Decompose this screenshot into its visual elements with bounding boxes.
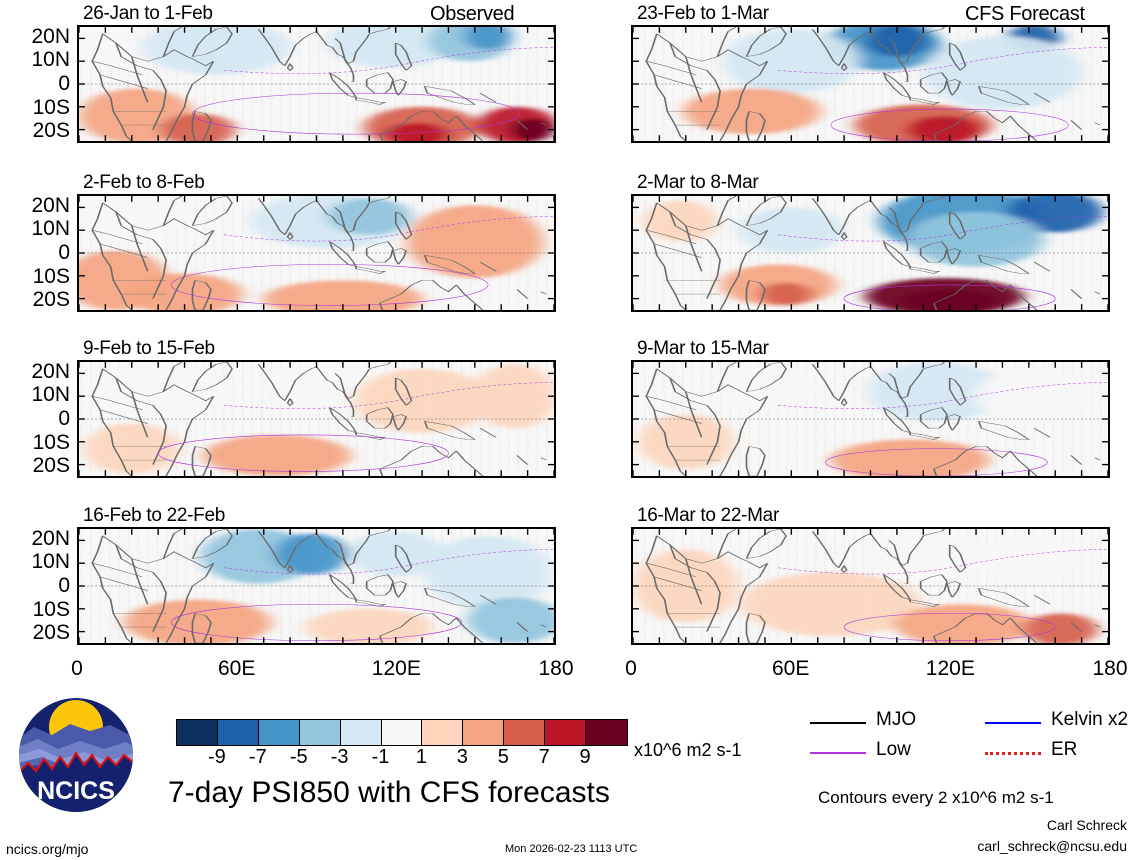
axis-ticks (633, 362, 1108, 476)
y-axis-tick-label: 20N (0, 527, 70, 551)
legend-label: Kelvin x2 (1051, 709, 1128, 731)
colorbar-swatch (341, 720, 382, 745)
axis-ticks (79, 529, 554, 643)
column-header-observed: Observed (430, 3, 514, 26)
map-plot-area (631, 194, 1110, 312)
panel-title: 9-Feb to 15-Feb (83, 338, 215, 360)
map-plot-area (631, 527, 1110, 645)
legend-line-low (810, 752, 866, 754)
y-axis-tick-label: 10S (0, 96, 70, 120)
colorbar-tick-label: -9 (208, 746, 226, 769)
colorbar-swatch (504, 720, 545, 745)
colorbar-tick-label: -5 (290, 746, 308, 769)
y-axis-tick-label: 10N (0, 217, 70, 241)
colorbar-swatch (177, 720, 218, 745)
y-axis-tick-label: 10S (0, 431, 70, 455)
colorbar-swatch (259, 720, 300, 745)
x-axis-tick-label: 60E (218, 657, 255, 681)
panel-right-1: 2-Mar to 8-Mar (631, 194, 1110, 312)
colorbar-tick-label: 7 (539, 746, 550, 769)
panel-left-1: 2-Feb to 8-Feb (77, 194, 556, 312)
panel-right-3: 16-Mar to 22-Mar (631, 527, 1110, 645)
colorbar-swatch (586, 720, 627, 745)
map-plot-area (77, 194, 556, 312)
column-header-forecast: CFS Forecast (965, 3, 1085, 26)
x-axis-tick-label: 120E (372, 657, 421, 681)
axis-ticks (79, 362, 554, 476)
panel-title: 26-Jan to 1-Feb (83, 3, 213, 25)
author-email-label: carl_schreck@ncsu.edu (977, 838, 1127, 854)
y-axis-tick-label: 0 (0, 241, 70, 265)
x-axis-tick-label: 0 (625, 657, 637, 681)
colorbar (176, 719, 628, 746)
x-axis-tick-label: 120E (926, 657, 975, 681)
ncics-logo: NCICS (18, 697, 134, 813)
panel-title: 9-Mar to 15-Mar (637, 338, 769, 360)
y-axis-tick-label: 20S (0, 288, 70, 312)
timestamp-label: Mon 2026-02-23 1113 UTC (505, 843, 637, 855)
colorbar-swatch (300, 720, 341, 745)
panel-left-2: 9-Feb to 15-Feb (77, 360, 556, 478)
panel-title: 2-Feb to 8-Feb (83, 172, 204, 194)
colorbar-tick-label: 9 (580, 746, 591, 769)
y-axis-tick-label: 20S (0, 119, 70, 143)
colorbar-tick-label: 3 (457, 746, 468, 769)
y-axis-tick-label: 0 (0, 574, 70, 598)
main-title: 7-day PSI850 with CFS forecasts (168, 776, 610, 810)
y-axis-tick-label: 0 (0, 72, 70, 96)
axis-ticks (79, 196, 554, 310)
contours-note-label: Contours every 2 x10^6 m2 s-1 (818, 788, 1054, 808)
colorbar-swatch (382, 720, 423, 745)
axis-ticks (79, 27, 554, 141)
colorbar-tick-label: -7 (249, 746, 267, 769)
site-url-label: ncics.org/mjo (6, 841, 88, 857)
y-axis-tick-label: 20N (0, 194, 70, 218)
legend-line-er (985, 752, 1041, 755)
axis-ticks (633, 529, 1108, 643)
panel-title: 2-Mar to 8-Mar (637, 172, 758, 194)
x-axis-tick-label: 180 (538, 657, 573, 681)
panel-left-3: 16-Feb to 22-Feb (77, 527, 556, 645)
y-axis-tick-label: 20S (0, 621, 70, 645)
y-axis-tick-label: 10N (0, 383, 70, 407)
map-plot-area (77, 360, 556, 478)
panel-right-0: 23-Feb to 1-Mar (631, 25, 1110, 143)
y-axis-tick-label: 10S (0, 598, 70, 622)
x-axis-tick-label: 0 (71, 657, 83, 681)
y-axis-tick-label: 10S (0, 265, 70, 289)
colorbar-tick-label: -1 (372, 746, 390, 769)
x-axis-tick-label: 180 (1092, 657, 1127, 681)
legend-label: ER (1051, 739, 1077, 761)
legend-label: Low (876, 739, 911, 761)
y-axis-tick-label: 10N (0, 550, 70, 574)
colorbar-tick-label: 5 (498, 746, 509, 769)
panel-title: 16-Feb to 22-Feb (83, 505, 225, 527)
legend-label: MJO (876, 709, 916, 731)
logo-text: NCICS (37, 777, 115, 805)
colorbar-units-label: x10^6 m2 s-1 (634, 740, 742, 761)
colorbar-swatch (422, 720, 463, 745)
map-plot-area (631, 360, 1110, 478)
y-axis-tick-label: 20S (0, 454, 70, 478)
y-axis-tick-label: 20N (0, 25, 70, 49)
y-axis-tick-label: 0 (0, 407, 70, 431)
x-axis-tick-label: 60E (772, 657, 809, 681)
panel-title: 16-Mar to 22-Mar (637, 505, 779, 527)
panel-left-0: 26-Jan to 1-Feb (77, 25, 556, 143)
map-plot-area (77, 25, 556, 143)
axis-ticks (633, 27, 1108, 141)
colorbar-tick-label: 1 (416, 746, 427, 769)
y-axis-tick-label: 10N (0, 48, 70, 72)
map-plot-area (631, 25, 1110, 143)
author-label: Carl Schreck (1047, 817, 1127, 833)
colorbar-swatch (463, 720, 504, 745)
colorbar-swatch (545, 720, 586, 745)
y-axis-tick-label: 20N (0, 360, 70, 384)
panel-title: 23-Feb to 1-Mar (637, 3, 769, 25)
legend-line-mjo (810, 722, 866, 724)
colorbar-swatch (218, 720, 259, 745)
map-plot-area (77, 527, 556, 645)
axis-ticks (633, 196, 1108, 310)
legend-line-kelvin-x2 (985, 722, 1041, 724)
colorbar-tick-label: -3 (331, 746, 349, 769)
panel-right-2: 9-Mar to 15-Mar (631, 360, 1110, 478)
